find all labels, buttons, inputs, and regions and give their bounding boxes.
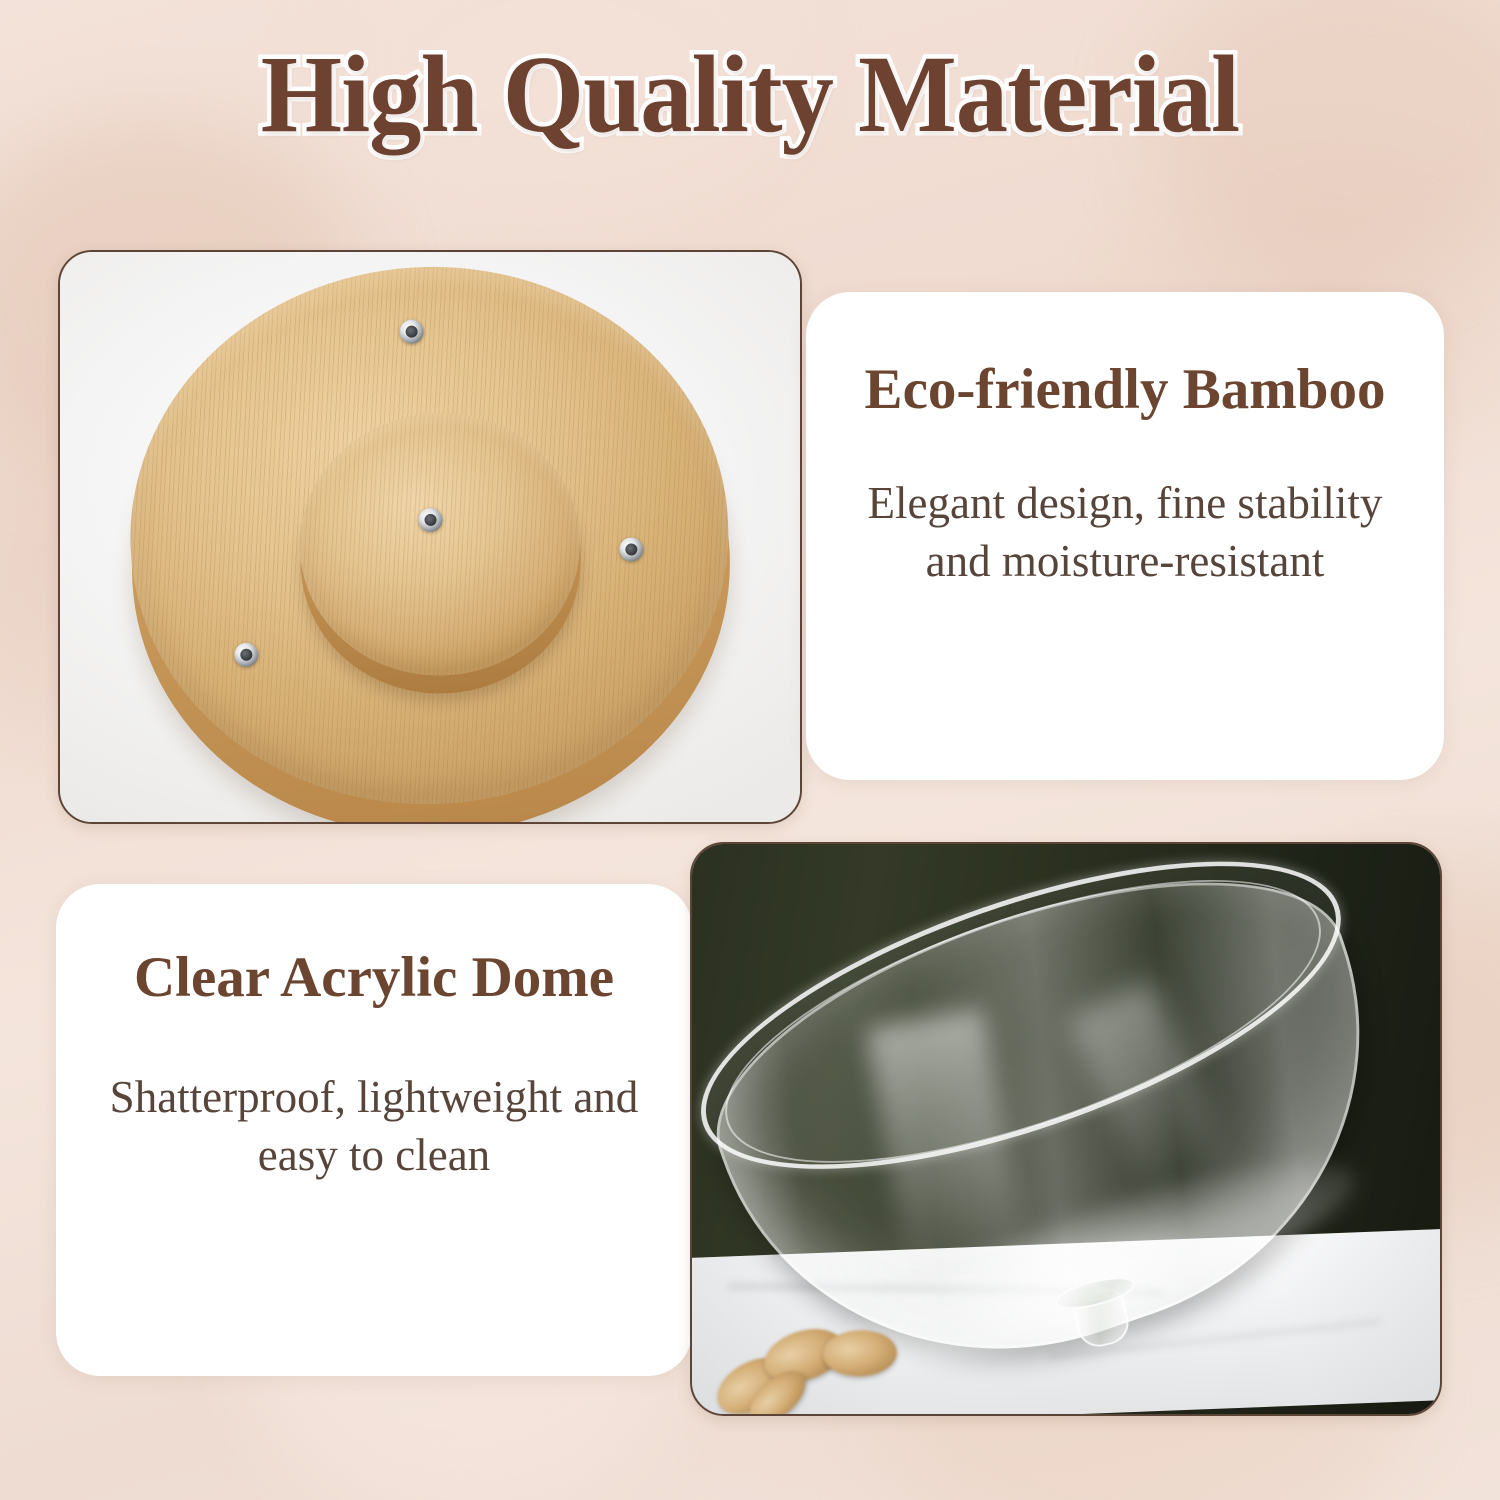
eco-friendly-bamboo-heading: Eco-friendly Bamboo — [865, 358, 1386, 423]
acrylic-dome-photo-card — [690, 842, 1442, 1416]
dome-photo-scene — [692, 844, 1440, 1414]
eco-friendly-bamboo-body: Elegant design, fine stability and moist… — [858, 475, 1392, 590]
pampas-frond — [822, 1329, 898, 1377]
page-title: High Quality Material — [0, 34, 1500, 154]
page-title-text: High Quality Material — [261, 39, 1240, 149]
clear-acrylic-dome-text-card: Clear Acrylic Dome Shatterproof, lightwe… — [56, 884, 692, 1376]
clear-acrylic-dome-body: Shatterproof, lightweight and easy to cl… — [102, 1069, 646, 1184]
bamboo-turntable-photo-card — [58, 250, 802, 824]
product-feature-infographic: High Quality Material Eco-friendly Bambo… — [0, 0, 1500, 1500]
bamboo-turntable-illustration — [89, 250, 770, 824]
clear-acrylic-dome-heading: Clear Acrylic Dome — [134, 946, 614, 1011]
bamboo-photo-scene — [60, 252, 800, 822]
eco-friendly-bamboo-text-card: Eco-friendly Bamboo Elegant design, fine… — [806, 292, 1444, 780]
